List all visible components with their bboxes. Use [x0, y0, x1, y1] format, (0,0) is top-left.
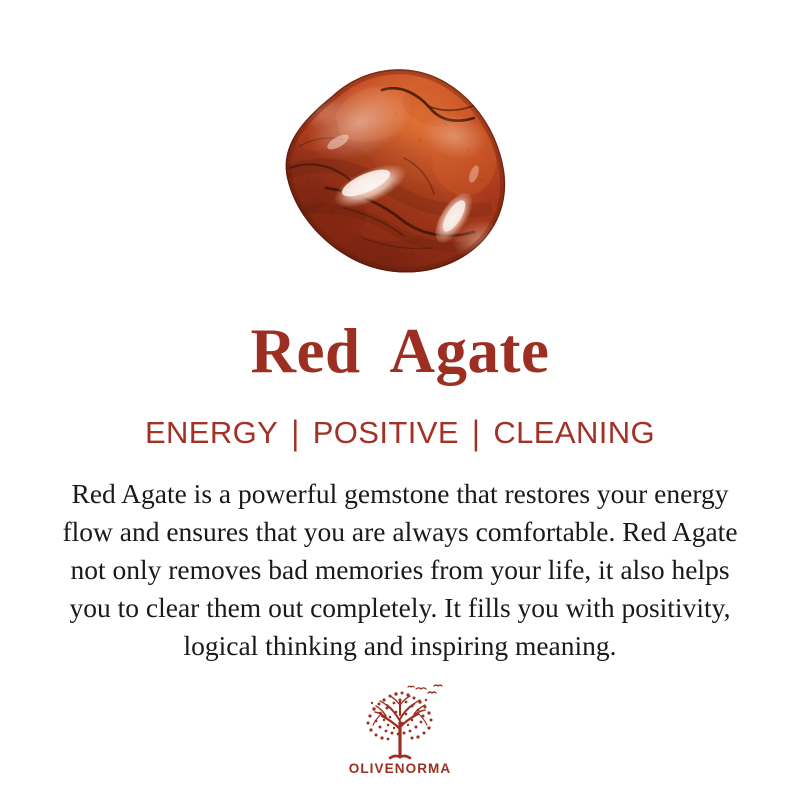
brand-logo: OLIVENORMA — [349, 683, 452, 776]
keyword-separator: | — [278, 415, 312, 450]
description-line: you to clear them out completely. It fil… — [24, 589, 776, 627]
description-line: logical thinking and inspiring meaning. — [24, 627, 776, 665]
gemstone-image — [278, 62, 510, 280]
brand-wordmark: OLIVENORMA — [349, 762, 452, 776]
page-title: Red Agate — [251, 320, 550, 383]
keyword-energy: ENERGY — [145, 417, 278, 448]
tree-of-life-icon — [354, 683, 446, 761]
keyword-list: ENERGY | POSITIVE | CLEANING — [145, 417, 655, 448]
description-line: flow and ensures that you are always com… — [24, 513, 776, 551]
keyword-positive: POSITIVE — [313, 417, 459, 448]
keyword-separator: | — [459, 415, 493, 450]
keyword-cleaning: CLEANING — [493, 417, 655, 448]
description-text: Red Agate is a powerful gemstone that re… — [24, 475, 776, 665]
gemstone-illustration — [278, 62, 510, 280]
product-info-card: Red Agate ENERGY | POSITIVE | CLEANING R… — [0, 0, 800, 800]
description-line: not only removes bad memories from your … — [24, 551, 776, 589]
description-line: Red Agate is a powerful gemstone that re… — [24, 475, 776, 513]
product-image-area — [0, 0, 800, 320]
